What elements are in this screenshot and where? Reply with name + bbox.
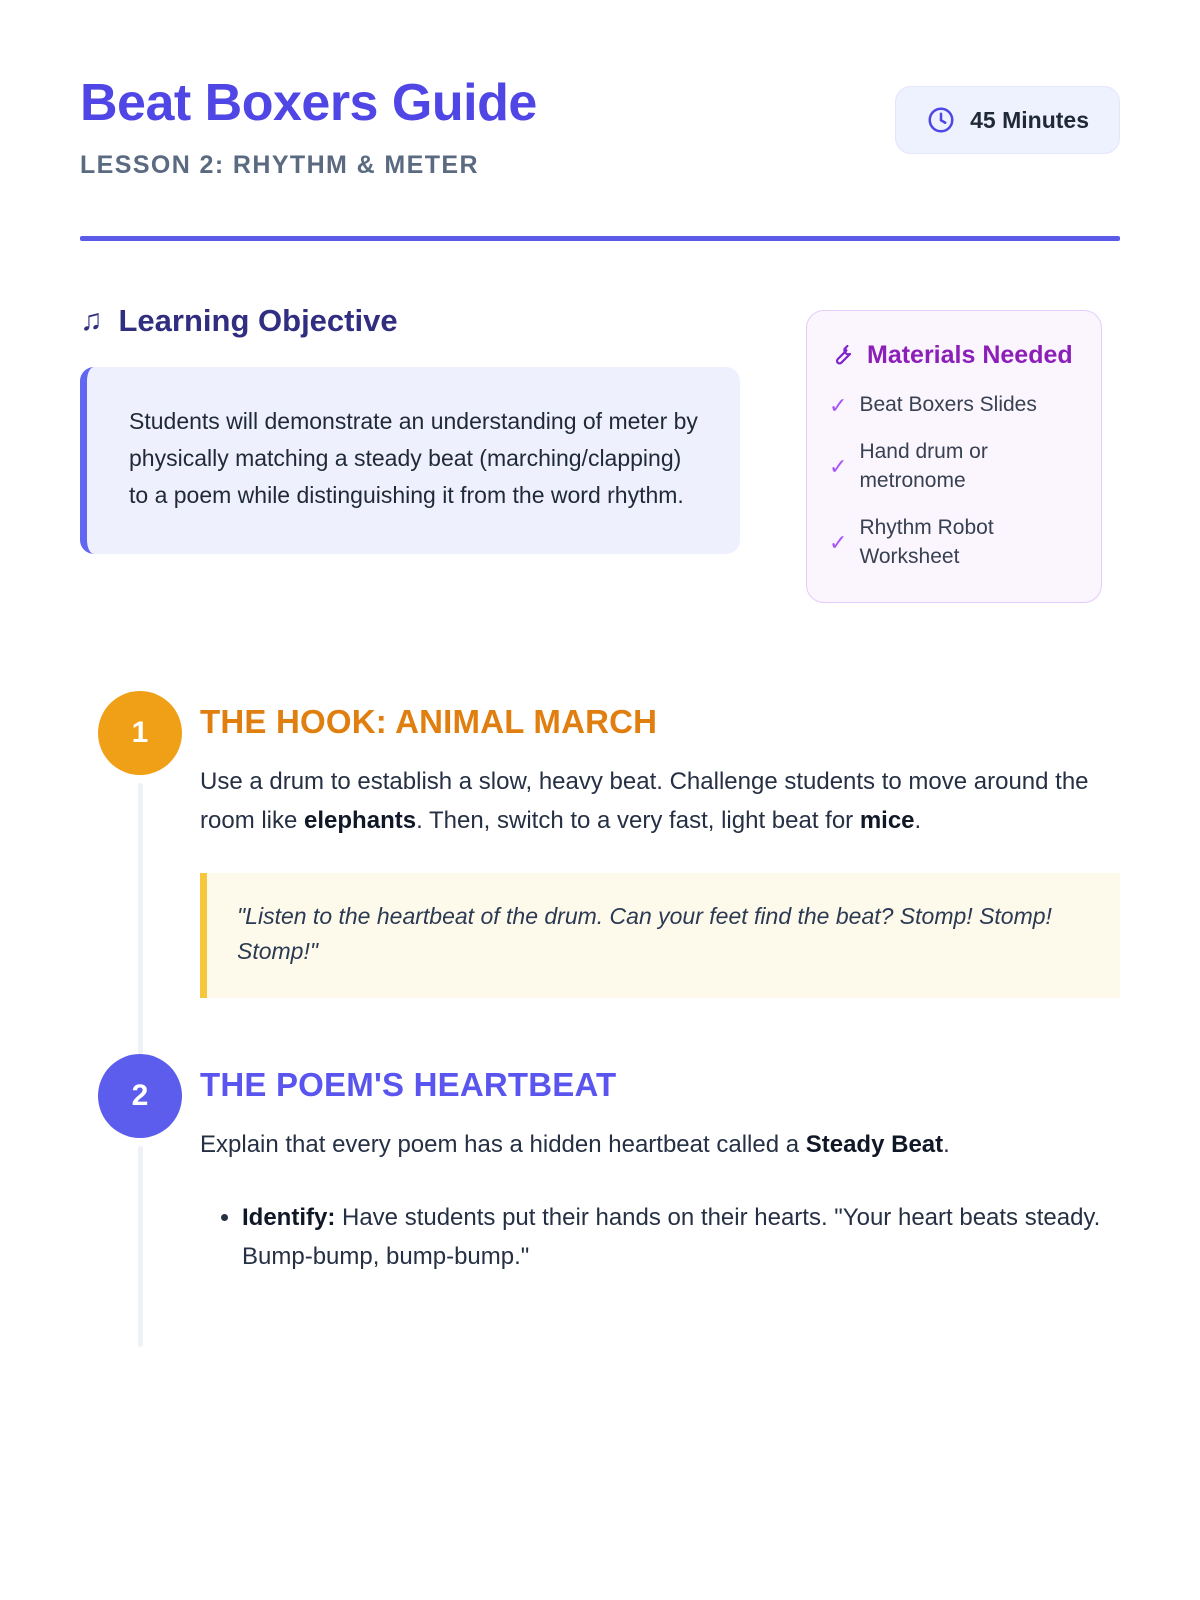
wrench-icon [829, 342, 855, 368]
objective-materials-row: ♫ Learning Objective Students will demon… [80, 303, 1120, 603]
step-paragraph: Explain that every poem has a hidden hea… [200, 1126, 1120, 1165]
teacher-script-callout: "Listen to the heartbeat of the drum. Ca… [200, 873, 1120, 998]
header-title-group: Beat Boxers Guide LESSON 2: RHYTHM & MET… [80, 72, 537, 180]
material-label: Hand drum or metronome [859, 438, 1075, 496]
lesson-guide-page: Beat Boxers Guide LESSON 2: RHYTHM & MET… [0, 0, 1200, 1600]
objective-heading-label: Learning Objective [119, 303, 398, 339]
step-body: THE POEM'S HEARTBEAT Explain that every … [200, 1054, 1120, 1347]
duration-badge: 45 Minutes [895, 86, 1120, 154]
objective-column: ♫ Learning Objective Students will demon… [80, 303, 740, 555]
step-connector-line [138, 783, 143, 1054]
objective-text: Students will demonstrate an understandi… [129, 403, 698, 515]
list-item: ✓ Beat Boxers Slides [829, 391, 1075, 420]
page-header: Beat Boxers Guide LESSON 2: RHYTHM & MET… [80, 72, 1120, 180]
header-divider [80, 236, 1120, 241]
page-title: Beat Boxers Guide [80, 76, 537, 131]
step-title: THE POEM'S HEARTBEAT [200, 1066, 1120, 1104]
check-icon: ✓ [829, 395, 847, 417]
material-label: Rhythm Robot Worksheet [859, 514, 1075, 572]
step-body: THE HOOK: ANIMAL MARCH Use a drum to est… [200, 691, 1120, 1054]
list-item: Identify: Have students put their hands … [242, 1199, 1120, 1277]
step-gutter: 1 [80, 691, 200, 1054]
step-1: 1 THE HOOK: ANIMAL MARCH Use a drum to e… [80, 691, 1120, 1054]
step-number-badge: 2 [98, 1054, 182, 1138]
step-title: THE HOOK: ANIMAL MARCH [200, 703, 1120, 741]
objective-heading: ♫ Learning Objective [80, 303, 740, 339]
duration-label: 45 Minutes [970, 107, 1089, 134]
material-label: Beat Boxers Slides [859, 391, 1036, 420]
callout-text: "Listen to the heartbeat of the drum. Ca… [237, 899, 1090, 970]
step-2: 2 THE POEM'S HEARTBEAT Explain that ever… [80, 1054, 1120, 1347]
objective-box: Students will demonstrate an understandi… [80, 367, 740, 555]
lesson-subtitle: LESSON 2: RHYTHM & METER [80, 151, 537, 180]
check-icon: ✓ [829, 532, 847, 554]
steps-list: 1 THE HOOK: ANIMAL MARCH Use a drum to e… [80, 691, 1120, 1347]
step-paragraph: Use a drum to establish a slow, heavy be… [200, 763, 1120, 841]
step-number-badge: 1 [98, 691, 182, 775]
materials-list: ✓ Beat Boxers Slides ✓ Hand drum or metr… [829, 391, 1075, 572]
step-gutter: 2 [80, 1054, 200, 1347]
list-item: ✓ Hand drum or metronome [829, 438, 1075, 496]
check-icon: ✓ [829, 456, 847, 478]
list-item: ✓ Rhythm Robot Worksheet [829, 514, 1075, 572]
materials-title: Materials Needed [867, 339, 1073, 372]
step-bullet-list: Identify: Have students put their hands … [200, 1199, 1120, 1277]
materials-card: Materials Needed ✓ Beat Boxers Slides ✓ … [806, 310, 1102, 603]
step-connector-line [138, 1146, 143, 1347]
music-note-icon: ♫ [80, 306, 103, 336]
clock-icon [926, 105, 956, 135]
materials-header: Materials Needed [829, 339, 1075, 372]
